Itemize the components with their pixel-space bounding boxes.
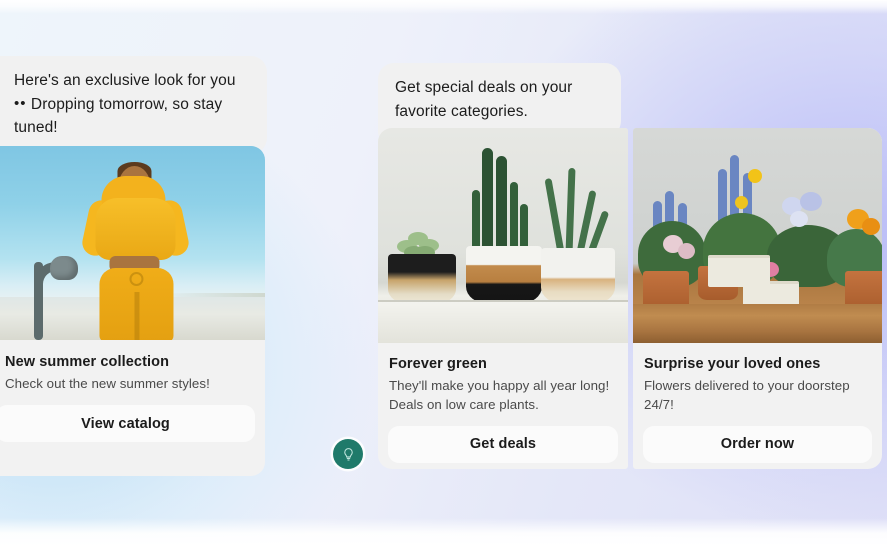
message-bubble-exclusive-look: Here's an exclusive look for you •• Drop… bbox=[0, 56, 267, 154]
card-image-flowers bbox=[633, 128, 882, 343]
rosemary-pot-illustration bbox=[541, 248, 615, 304]
top-fade-overlay bbox=[0, 0, 887, 14]
card-description-flowers: Flowers delivered to your doorstep 24/7! bbox=[644, 377, 871, 415]
product-card-summer[interactable]: New summer collection Check out the new … bbox=[0, 146, 265, 476]
get-deals-button[interactable]: Get deals bbox=[388, 426, 618, 463]
order-now-button[interactable]: Order now bbox=[643, 426, 872, 463]
message-text: Get special deals on your favorite categ… bbox=[395, 79, 572, 120]
beach-shower-illustration bbox=[26, 248, 80, 340]
message-text-part-1: Here's an exclusive look for you bbox=[14, 72, 236, 89]
product-card-forever-green[interactable]: Forever green They'll make you happy all… bbox=[378, 128, 628, 469]
view-catalog-button[interactable]: View catalog bbox=[0, 405, 255, 442]
sparkles-emoji-icon: •• bbox=[14, 93, 27, 116]
card-title-flowers: Surprise your loved ones bbox=[644, 355, 871, 373]
succulent-pot-illustration bbox=[388, 254, 456, 304]
cactus-pot-illustration bbox=[466, 246, 542, 304]
bottom-fade-overlay bbox=[0, 518, 887, 554]
model-illustration bbox=[79, 160, 191, 340]
card-description-forever-green: They'll make you happy all year long! De… bbox=[389, 377, 617, 415]
message-text-part-2: Dropping tomorrow, so stay tuned! bbox=[14, 96, 222, 137]
card-image-cacti bbox=[378, 128, 628, 343]
card-image-summer bbox=[0, 146, 265, 340]
card-description-summer: Check out the new summer styles! bbox=[5, 375, 253, 394]
message-bubble-special-deals: Get special deals on your favorite categ… bbox=[378, 63, 621, 137]
card-title-forever-green: Forever green bbox=[389, 355, 617, 373]
lightbulb-icon bbox=[341, 447, 356, 462]
chat-carousel-screen: Here's an exclusive look for you •• Drop… bbox=[0, 0, 887, 554]
card-title-summer: New summer collection bbox=[5, 353, 253, 371]
agent-avatar[interactable] bbox=[333, 439, 363, 469]
product-card-flowers[interactable]: Surprise your loved ones Flowers deliver… bbox=[633, 128, 882, 469]
